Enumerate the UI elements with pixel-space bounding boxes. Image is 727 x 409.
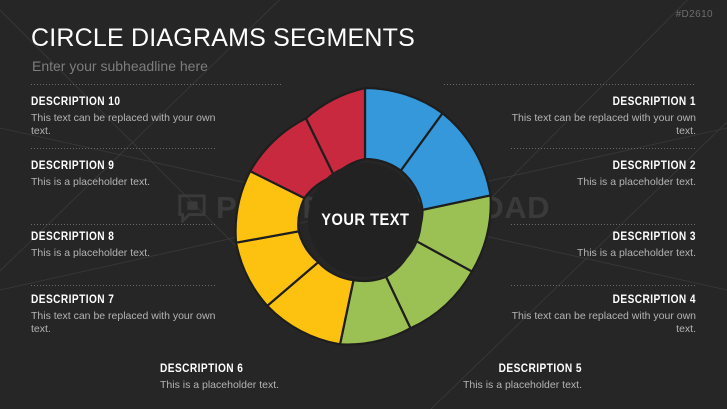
description-body: This is a placeholder text. bbox=[382, 379, 582, 392]
description-block-1[interactable]: DESCRIPTION 1 This text can be replaced … bbox=[496, 96, 696, 138]
description-title: DESCRIPTION 8 bbox=[31, 231, 207, 243]
divider-left-3 bbox=[31, 285, 216, 286]
description-block-10[interactable]: DESCRIPTION 10 This text can be replaced… bbox=[31, 96, 231, 138]
speech-bubble-icon bbox=[177, 193, 207, 223]
description-body: This is a placeholder text. bbox=[160, 379, 360, 392]
description-title: DESCRIPTION 4 bbox=[520, 294, 696, 306]
description-block-3[interactable]: DESCRIPTION 3 This is a placeholder text… bbox=[496, 231, 696, 260]
description-body: This text can be replaced with your own … bbox=[31, 310, 231, 336]
description-title: DESCRIPTION 7 bbox=[31, 294, 207, 306]
divider-right-1 bbox=[511, 148, 696, 149]
description-block-4[interactable]: DESCRIPTION 4 This text can be replaced … bbox=[496, 294, 696, 336]
divider-left-2 bbox=[31, 224, 216, 225]
description-title: DESCRIPTION 5 bbox=[406, 363, 582, 375]
page-subtitle[interactable]: Enter your subheadline here bbox=[32, 58, 208, 74]
document-id: #D2610 bbox=[676, 9, 713, 20]
description-body: This text can be replaced with your own … bbox=[496, 310, 696, 336]
donut-chart bbox=[230, 85, 500, 355]
description-block-7[interactable]: DESCRIPTION 7 This text can be replaced … bbox=[31, 294, 231, 336]
description-title: DESCRIPTION 1 bbox=[520, 96, 696, 108]
description-body: This is a placeholder text. bbox=[496, 176, 696, 189]
description-title: DESCRIPTION 6 bbox=[160, 363, 336, 375]
description-body: This text can be replaced with your own … bbox=[31, 112, 231, 138]
slide-canvas: PRESENTATIONLOAD #D2610 CIRCLE DIAGRAMS … bbox=[0, 0, 727, 409]
donut-center-hub bbox=[308, 163, 422, 277]
description-block-6[interactable]: DESCRIPTION 6 This is a placeholder text… bbox=[160, 363, 360, 392]
description-body: This is a placeholder text. bbox=[31, 176, 231, 189]
description-title: DESCRIPTION 2 bbox=[520, 160, 696, 172]
description-body: This text can be replaced with your own … bbox=[496, 112, 696, 138]
description-body: This is a placeholder text. bbox=[496, 247, 696, 260]
divider-right-3 bbox=[511, 285, 696, 286]
description-block-8[interactable]: DESCRIPTION 8 This is a placeholder text… bbox=[31, 231, 231, 260]
page-title: CIRCLE DIAGRAMS SEGMENTS bbox=[31, 24, 415, 53]
divider-header-right bbox=[444, 84, 696, 85]
description-title: DESCRIPTION 9 bbox=[31, 160, 207, 172]
divider-right-2 bbox=[511, 224, 696, 225]
divider-header-left bbox=[31, 84, 282, 85]
description-body: This is a placeholder text. bbox=[31, 247, 231, 260]
divider-left-1 bbox=[31, 148, 216, 149]
description-title: DESCRIPTION 10 bbox=[31, 96, 207, 108]
description-block-2[interactable]: DESCRIPTION 2 This is a placeholder text… bbox=[496, 160, 696, 189]
description-block-5[interactable]: DESCRIPTION 5 This is a placeholder text… bbox=[382, 363, 582, 392]
description-block-9[interactable]: DESCRIPTION 9 This is a placeholder text… bbox=[31, 160, 231, 189]
description-title: DESCRIPTION 3 bbox=[520, 231, 696, 243]
